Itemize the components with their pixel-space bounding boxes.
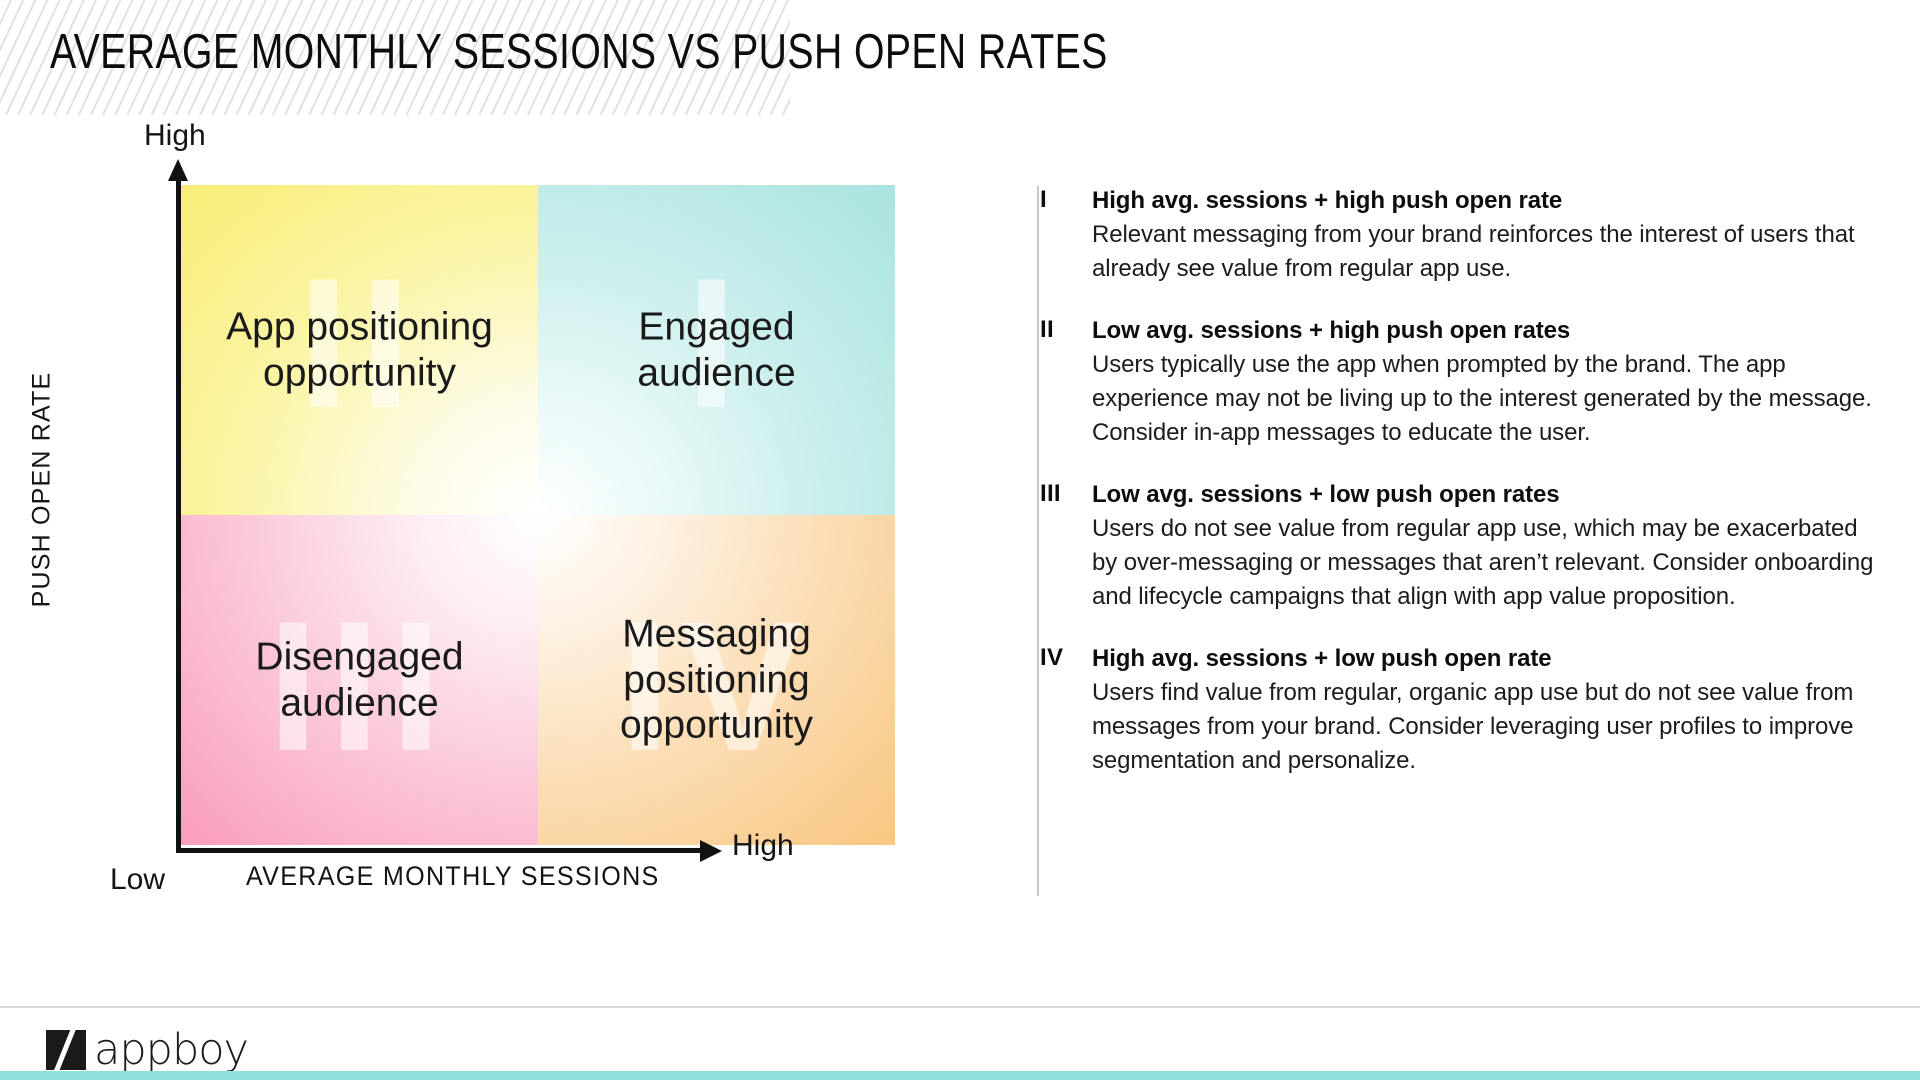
legend-item-text: Relevant messaging from your brand reinf… xyxy=(1092,218,1880,286)
y-axis-line xyxy=(176,177,181,853)
y-axis-title: PUSH OPEN RATE xyxy=(28,360,57,620)
quadrant-matrix: II App positioning opportunity I Engaged… xyxy=(181,185,895,845)
legend-item-body: High avg. sessions + high push open rate… xyxy=(1092,186,1880,286)
footer-divider xyxy=(0,1006,1920,1008)
legend-item-text: Users do not see value from regular app … xyxy=(1092,512,1880,614)
quadrant-label-line-2: audience xyxy=(199,680,520,726)
appboy-logo-text: appboy xyxy=(94,1030,248,1070)
legend-item-text: Users typically use the app when prompte… xyxy=(1092,348,1880,450)
quadrant-label: App positioning opportunity xyxy=(181,304,538,395)
quadrant-chart: II App positioning opportunity I Engaged… xyxy=(0,115,830,895)
quadrant-label-line-2: audience xyxy=(556,350,877,396)
quadrant-label-line-1: App positioning xyxy=(199,304,520,350)
legend-item-body: Low avg. sessions + high push open rates… xyxy=(1092,316,1880,450)
legend-item: IV High avg. sessions + low push open ra… xyxy=(1040,644,1880,778)
legend-item-heading: Low avg. sessions + low push open rates xyxy=(1092,480,1880,511)
quadrant-label-line-2: opportunity xyxy=(199,350,520,396)
quadrant-app-positioning-opportunity[interactable]: II App positioning opportunity xyxy=(181,185,538,515)
legend-item-body: Low avg. sessions + low push open rates … xyxy=(1092,480,1880,614)
legend-item-body: High avg. sessions + low push open rate … xyxy=(1092,644,1880,778)
quadrant-messaging-positioning-opportunity[interactable]: IV Messaging positioning opportunity xyxy=(538,515,895,845)
x-axis-low-label: Low xyxy=(110,863,165,897)
page-title: AVERAGE MONTHLY SESSIONS VS PUSH OPEN RA… xyxy=(50,24,1108,80)
y-axis-arrow-icon xyxy=(168,159,188,181)
x-axis-line xyxy=(176,848,706,853)
appboy-logo: appboy xyxy=(46,1030,248,1070)
quadrant-label-line-2: positioning xyxy=(556,657,877,703)
x-axis-high-label: High xyxy=(732,829,794,863)
quadrant-label: Messaging positioning opportunity xyxy=(538,612,895,749)
legend-item-numeral: IV xyxy=(1040,644,1086,672)
y-axis-high-label: High xyxy=(144,119,206,153)
legend-item-numeral: I xyxy=(1040,186,1086,214)
x-axis-arrow-icon xyxy=(700,840,722,862)
legend-item-numeral: II xyxy=(1040,316,1086,344)
quadrant-label-line-1: Disengaged xyxy=(199,634,520,680)
quadrant-label: Engaged audience xyxy=(538,304,895,395)
quadrant-label-line-1: Messaging xyxy=(556,612,877,658)
quadrant-label-line-3: opportunity xyxy=(556,703,877,749)
legend-item: III Low avg. sessions + low push open ra… xyxy=(1040,480,1880,614)
legend-item-text: Users find value from regular, organic a… xyxy=(1092,676,1880,778)
quadrant-label-line-1: Engaged xyxy=(556,304,877,350)
logo-slash-icon xyxy=(52,1030,77,1070)
footer-accent-bar xyxy=(0,1071,1920,1080)
legend-divider xyxy=(1037,186,1039,896)
legend-item: I High avg. sessions + high push open ra… xyxy=(1040,186,1880,286)
quadrant-engaged-audience[interactable]: I Engaged audience xyxy=(538,185,895,515)
legend-item-heading: High avg. sessions + low push open rate xyxy=(1092,644,1880,675)
legend-item: II Low avg. sessions + high push open ra… xyxy=(1040,316,1880,450)
quadrant-disengaged-audience[interactable]: III Disengaged audience xyxy=(181,515,538,845)
appboy-logo-mark-icon xyxy=(46,1030,86,1070)
legend-item-numeral: III xyxy=(1040,480,1086,508)
legend-item-heading: Low avg. sessions + high push open rates xyxy=(1092,316,1880,347)
quadrant-label: Disengaged audience xyxy=(181,634,538,725)
legend-item-heading: High avg. sessions + high push open rate xyxy=(1092,186,1880,217)
x-axis-title: AVERAGE MONTHLY SESSIONS xyxy=(246,861,660,892)
legend-panel: I High avg. sessions + high push open ra… xyxy=(1040,186,1880,778)
